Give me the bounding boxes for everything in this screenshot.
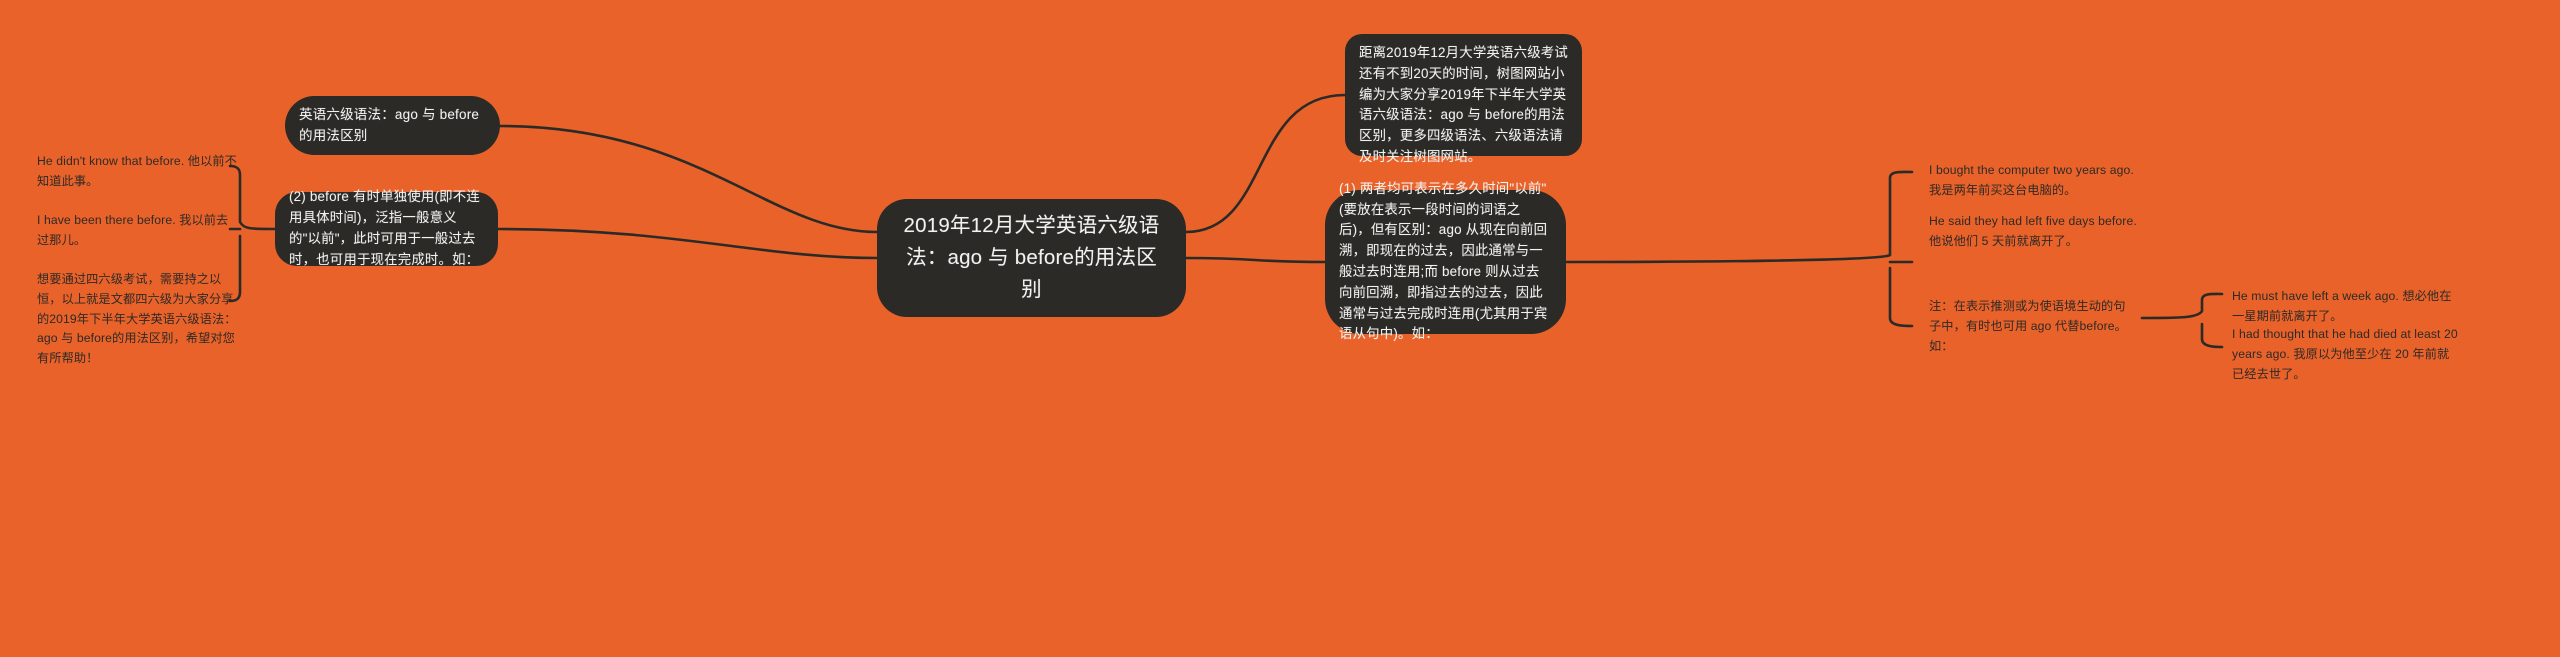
leaf-example-before-1: He didn't know that before. 他以前不知道此事。	[37, 152, 237, 192]
branch-node-rule-1[interactable]: (1) 两者均可表示在多久时间"以前"(要放在表示一段时间的词语之后)，但有区别…	[1325, 190, 1566, 334]
link-rule1-to-right-leaves-down	[1890, 268, 1912, 326]
leaf-example-before-2: I have been there before. 我以前去过那儿。	[37, 211, 237, 251]
branch-node-rule-2[interactable]: (2) before 有时单独使用(即不连用具体时间)，泛指一般意义的"以前"，…	[275, 192, 498, 266]
leaf-note-ago-replaces-before: 注：在表示推测或为使语境生动的句子中，有时也可用 ago 代替before。如：	[1929, 297, 2137, 356]
link-root-to-rule-1	[1186, 258, 1325, 262]
branch-node-topic-title[interactable]: 英语六级语法：ago 与 before的用法区别	[285, 96, 500, 155]
link-note-to-farright-down	[2202, 324, 2222, 347]
leaf-example-ago-3: I had thought that he had died at least …	[2232, 325, 2460, 384]
branch-rule-2-label: (2) before 有时单独使用(即不连用具体时间)，泛指一般意义的"以前"，…	[289, 187, 484, 270]
leaf-example-before-3: He said they had left five days before. …	[1929, 212, 2139, 252]
branch-topic-title-label: 英语六级语法：ago 与 before的用法区别	[299, 105, 486, 147]
link-root-to-topic-title	[500, 126, 877, 232]
leaf-example-ago-2: He must have left a week ago. 想必他在一星期前就离…	[2232, 287, 2454, 327]
root-node[interactable]: 2019年12月大学英语六级语法：ago 与 before的用法区别	[877, 199, 1186, 317]
branch-rule-1-label: (1) 两者均可表示在多久时间"以前"(要放在表示一段时间的词语之后)，但有区别…	[1339, 179, 1552, 345]
leaf-example-ago-1: I bought the computer two years ago. 我是两…	[1929, 161, 2139, 201]
root-node-label: 2019年12月大学英语六级语法：ago 与 before的用法区别	[899, 210, 1164, 305]
link-rule1-to-right-leaves-up	[1566, 172, 1912, 262]
link-root-to-intro	[1186, 95, 1345, 232]
branch-intro-label: 距离2019年12月大学英语六级考试还有不到20天的时间，树图网站小编为大家分享…	[1359, 43, 1568, 168]
link-root-to-rule-2	[498, 229, 877, 258]
mindmap-canvas: 2019年12月大学英语六级语法：ago 与 before的用法区别 英语六级语…	[0, 0, 2560, 657]
leaf-closing-note: 想要通过四六级考试，需要持之以恒，以上就是文都四六级为大家分享的2019年下半年…	[37, 270, 237, 369]
branch-node-intro[interactable]: 距离2019年12月大学英语六级考试还有不到20天的时间，树图网站小编为大家分享…	[1345, 34, 1582, 156]
link-note-to-farright-up	[2142, 294, 2222, 318]
